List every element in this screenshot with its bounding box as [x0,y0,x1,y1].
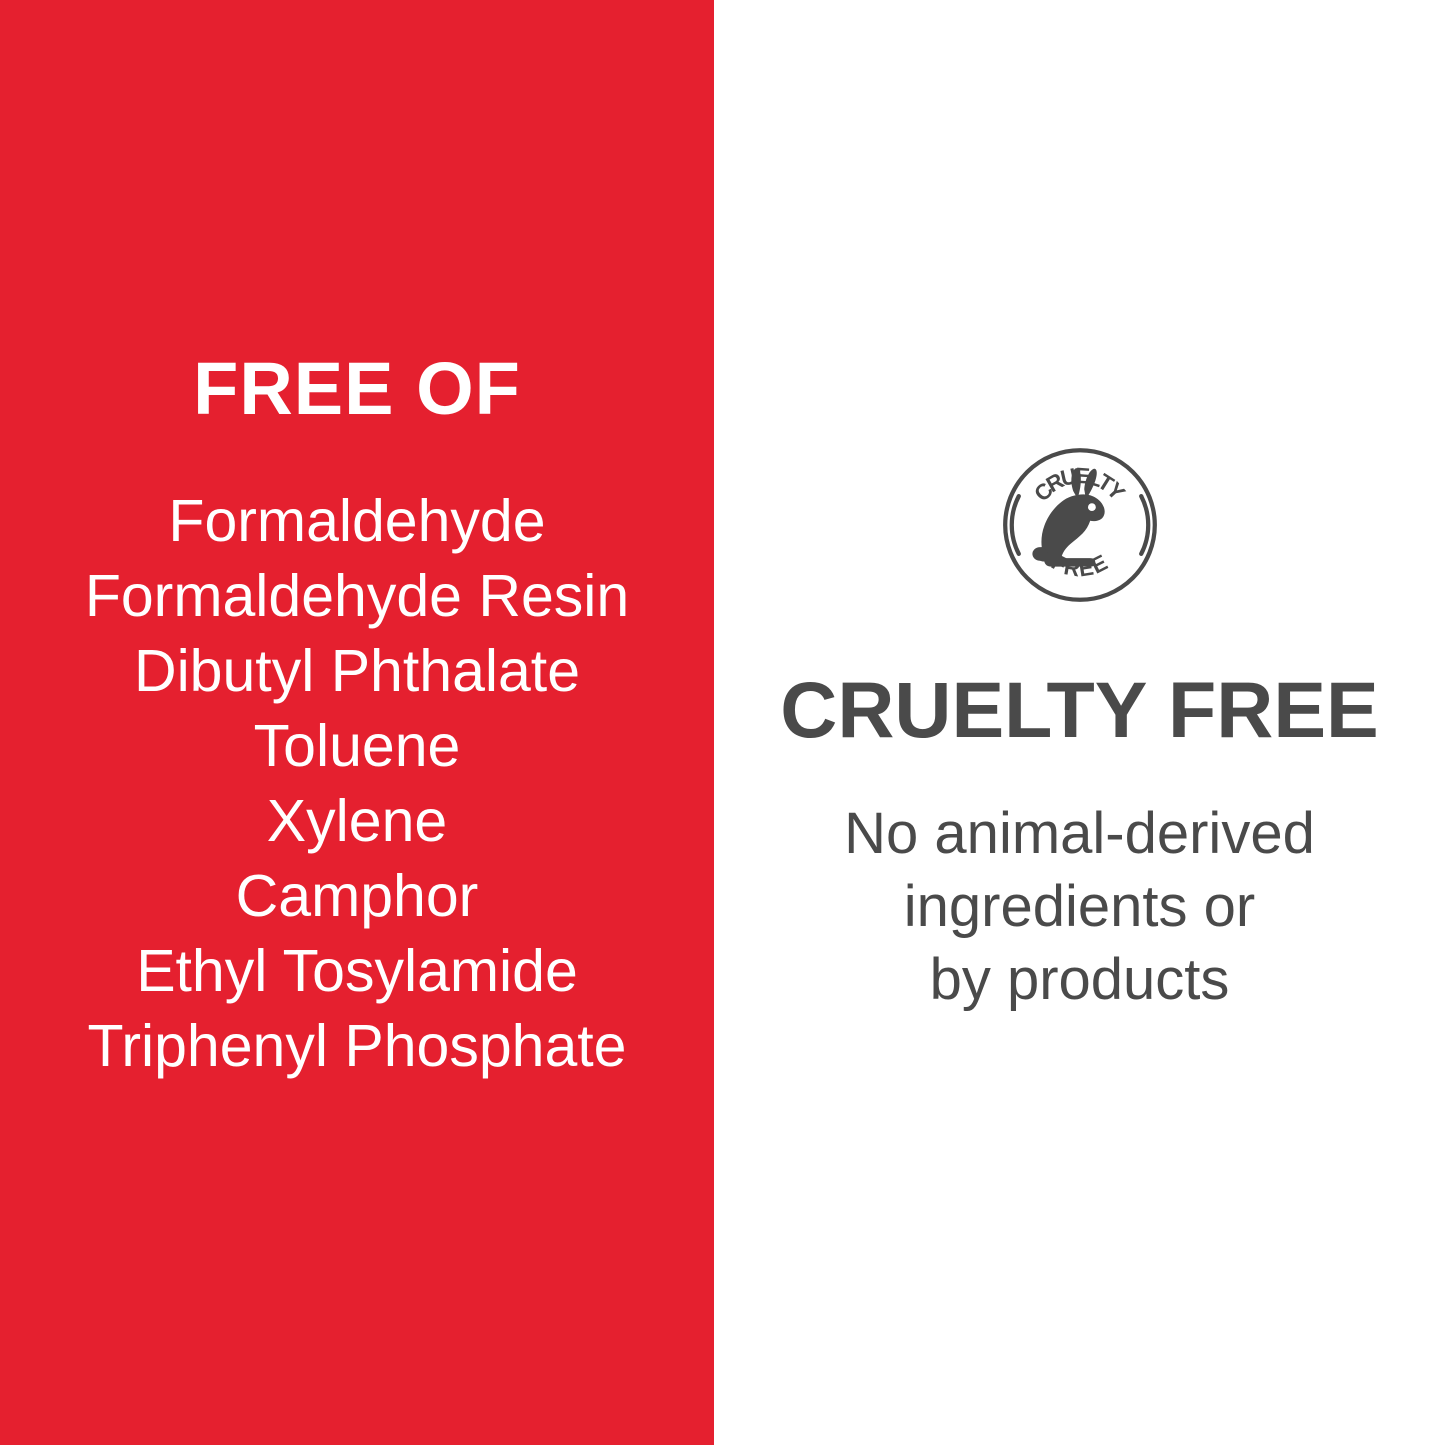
list-item: Formaldehyde Resin [0,559,714,634]
description-line: ingredients or [714,870,1445,943]
free-of-content: FREE OF Formaldehyde Formaldehyde Resin … [0,352,714,1084]
list-item: Camphor [0,859,714,934]
excluded-ingredients-list: Formaldehyde Formaldehyde Resin Dibutyl … [0,484,714,1084]
cruelty-free-rabbit-badge-icon: CRUELTY FREE [995,440,1165,610]
description-line: by products [714,943,1445,1016]
list-item: Formaldehyde [0,484,714,559]
cruelty-free-heading: CRUELTY FREE [714,670,1445,749]
description-line: No animal-derived [714,797,1445,870]
free-of-title: FREE OF [0,352,714,426]
promo-graphic-root: FREE OF Formaldehyde Formaldehyde Resin … [0,0,1445,1445]
cruelty-free-content: CRUELTY FREE [714,440,1445,1016]
free-of-panel: FREE OF Formaldehyde Formaldehyde Resin … [0,0,714,1445]
list-item: Triphenyl Phosphate [0,1009,714,1084]
list-item: Toluene [0,709,714,784]
cruelty-free-panel: CRUELTY FREE [714,0,1445,1445]
list-item: Dibutyl Phthalate [0,634,714,709]
list-item: Ethyl Tosylamide [0,934,714,1009]
cruelty-free-description: No animal-derived ingredients or by prod… [714,797,1445,1016]
list-item: Xylene [0,784,714,859]
